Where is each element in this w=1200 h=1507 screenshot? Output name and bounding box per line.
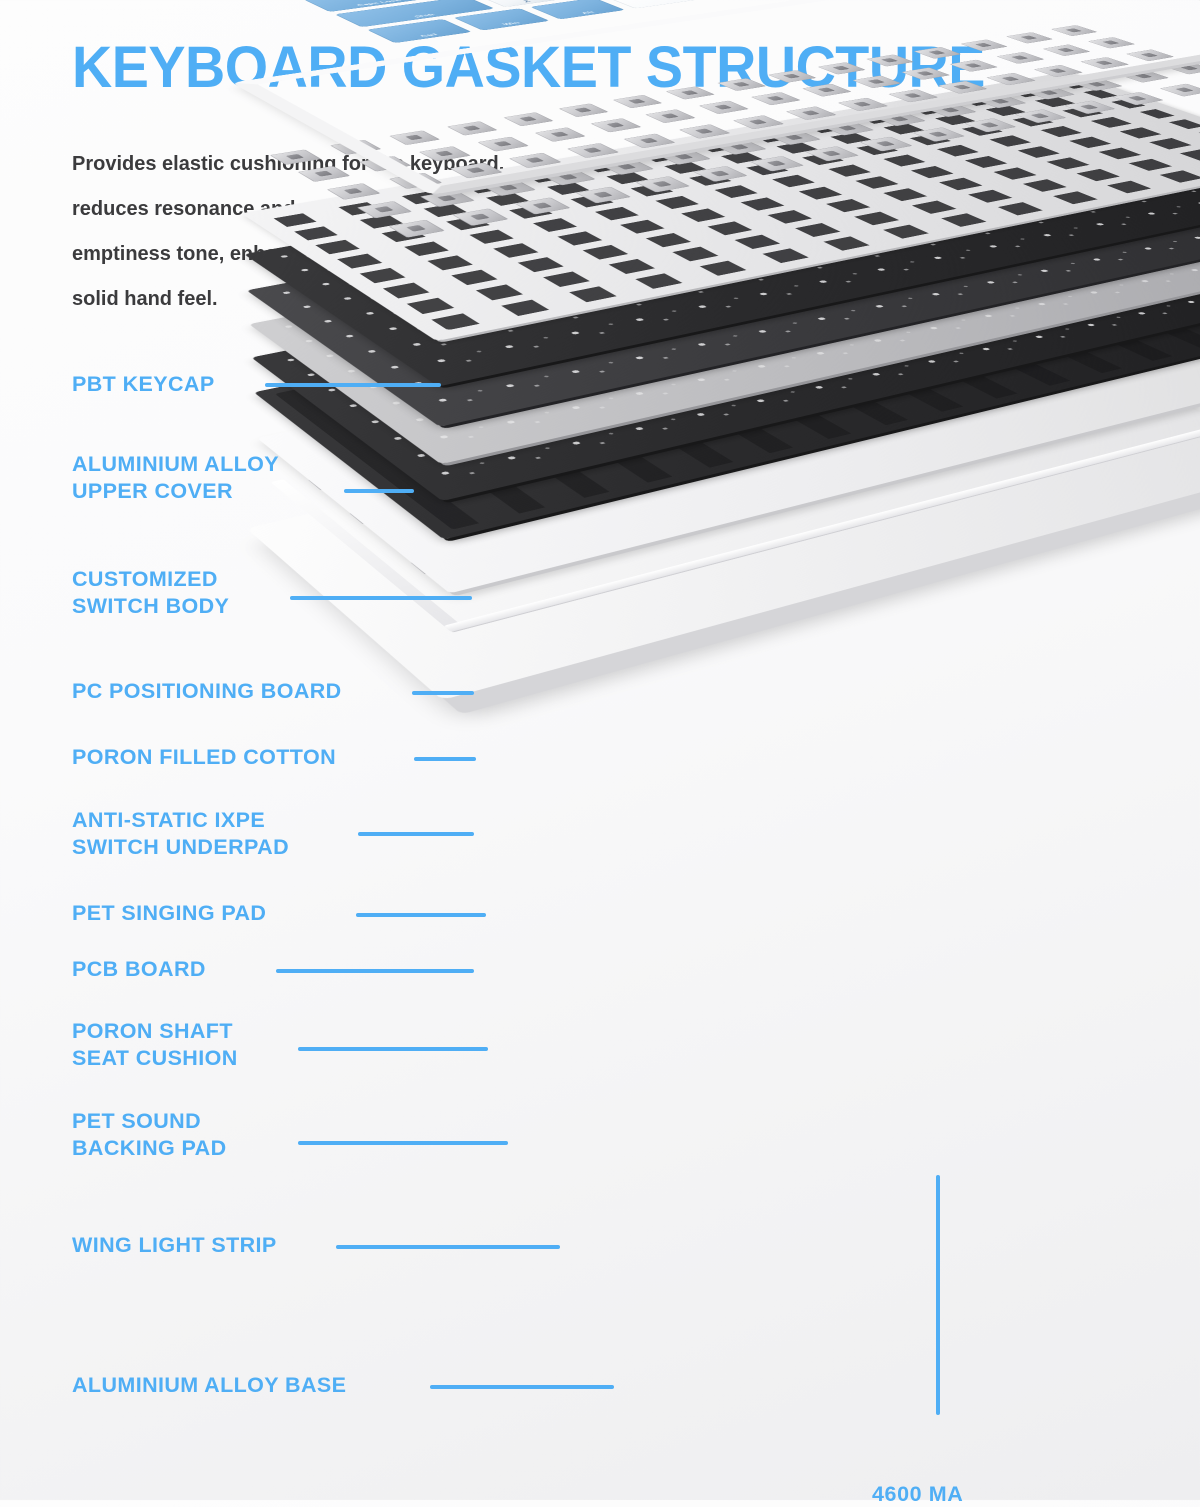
switch-body	[1064, 100, 1116, 114]
switch-wall	[1126, 49, 1175, 61]
keycap-legend: Caps Lock	[304, 0, 436, 12]
switch-stem	[890, 116, 909, 121]
layer-aluminium-alloy-base	[247, 342, 1200, 700]
switch-wall	[635, 176, 690, 192]
switch-wall	[447, 121, 498, 135]
switch-stem	[1088, 82, 1106, 87]
switch-stem	[785, 135, 804, 140]
label-switch-body-line-2: SWITCH BODY	[72, 593, 229, 620]
switch-stem	[674, 154, 693, 160]
switch-housing	[1064, 100, 1116, 114]
switch-body	[925, 103, 977, 117]
strip-clip-3	[410, 559, 440, 575]
switch-stem	[929, 132, 948, 137]
switch-wall	[1051, 25, 1098, 36]
switch-wall	[859, 137, 912, 152]
switch-housing	[658, 149, 711, 164]
switch-body	[503, 112, 553, 126]
keycap-skirt	[605, 0, 941, 9]
switch-body	[559, 103, 609, 117]
switch-housing	[1024, 86, 1075, 99]
switch-housing	[503, 112, 553, 126]
switch-stem	[551, 132, 569, 137]
keycap-caps-lock: Caps Lock	[304, 0, 436, 12]
label-pet-sound-backing-line-2: BACKING PAD	[72, 1135, 227, 1162]
switch-body	[964, 118, 1017, 132]
switch-wall	[1072, 78, 1123, 91]
label-pet-singing-pad: PET SINGING PAD	[72, 900, 266, 927]
keycap-skirt	[477, 0, 558, 7]
switch-body	[750, 156, 804, 172]
switch-wall	[874, 112, 926, 126]
switch-stem	[1040, 90, 1058, 95]
label-pet-singing-pad-line-1: PET SINGING PAD	[72, 900, 266, 927]
switch-stem	[593, 192, 613, 198]
switch-body	[534, 127, 585, 142]
switch-body	[874, 112, 926, 126]
switch-wall	[1080, 57, 1129, 69]
switch-body	[1088, 37, 1136, 48]
switch-stem	[838, 125, 857, 130]
switch-wall	[623, 134, 675, 149]
switch-housing	[1165, 62, 1200, 74]
switch-body	[1112, 92, 1164, 105]
keycap-legend: Shift	[335, 0, 495, 27]
switch-housing	[1088, 37, 1136, 48]
switch-stem	[1001, 76, 1019, 81]
switch-wall	[1014, 109, 1066, 123]
switch-housing	[714, 140, 767, 155]
switch-housing	[1080, 57, 1129, 69]
switch-housing	[600, 159, 654, 175]
leader-line-pcb-board	[276, 969, 474, 973]
switch-stem	[405, 135, 423, 140]
switch-wall	[714, 140, 767, 155]
label-poron-filled-cotton: PORON FILLED COTTON	[72, 744, 336, 771]
switch-stem	[991, 99, 1009, 104]
switch-stem	[1020, 36, 1037, 40]
subtitle-line-3: emptiness tone, enhance typing	[72, 232, 592, 277]
switch-stem	[1134, 74, 1152, 79]
leader-line-pbt-keycap	[265, 383, 441, 387]
switch-stem	[714, 105, 732, 110]
switch-stem	[802, 110, 820, 115]
light-strip-left	[271, 479, 465, 631]
label-ixpe-underpad: ANTI-STATIC IXPESWITCH UNDERPAD	[72, 807, 289, 861]
switch-stem	[617, 164, 636, 170]
switch-stem	[710, 171, 729, 177]
switch-housing	[786, 106, 837, 120]
leader-line-pet-sound-backing	[298, 1141, 508, 1145]
switch-body	[1024, 86, 1075, 99]
switch-wall	[590, 118, 641, 132]
leader-line-poron-shaft	[298, 1047, 488, 1051]
switch-stem	[749, 119, 767, 124]
label-pet-sound-backing-line-1: PET SOUND	[72, 1108, 227, 1135]
switch-body	[1051, 25, 1098, 36]
switch-body	[786, 106, 837, 120]
switch-body	[1072, 78, 1123, 91]
switch-body	[1165, 62, 1200, 74]
switch-housing	[1014, 109, 1066, 123]
switch-wall	[986, 73, 1036, 86]
switch-housing	[623, 134, 675, 149]
switch-body	[635, 176, 690, 192]
switch-stem	[574, 107, 592, 112]
switch-stem	[1030, 113, 1049, 118]
switch-wall	[503, 112, 553, 126]
switch-body	[733, 115, 785, 129]
switch-stem	[1095, 61, 1113, 65]
switch-body	[1042, 44, 1090, 56]
switch-wall	[1159, 84, 1200, 97]
keycap-shift: Shift	[335, 0, 495, 27]
leader-line-pc-positioning	[412, 691, 474, 695]
switch-housing	[447, 121, 498, 135]
switch-body	[859, 137, 912, 152]
switch-body	[658, 149, 711, 164]
switch-housing	[1051, 25, 1098, 36]
switch-housing	[912, 127, 965, 142]
switch-stem	[980, 122, 999, 127]
label-pc-positioning-line-1: PC POSITIONING BOARD	[72, 678, 342, 705]
switch-stem	[1141, 53, 1159, 57]
switch-housing	[1034, 65, 1084, 77]
switch-body	[1126, 49, 1175, 61]
label-ixpe-underpad-line-1: ANTI-STATIC IXPE	[72, 807, 289, 834]
switch-housing	[1006, 32, 1053, 43]
switch-wall	[658, 149, 711, 164]
switch-wall	[1034, 65, 1084, 77]
switch-stem	[652, 181, 672, 187]
label-ixpe-underpad-line-2: SWITCH UNDERPAD	[72, 834, 289, 861]
label-aluminium-upper-line-2: UPPER COVER	[72, 478, 279, 505]
switch-housing	[1119, 70, 1169, 83]
keycap-z: Z	[477, 0, 558, 7]
switch-housing	[645, 109, 696, 123]
label-poron-shaft-line-2: SEAT CUSHION	[72, 1045, 238, 1072]
keycap-skirt	[530, 0, 626, 19]
label-pc-positioning: PC POSITIONING BOARD	[72, 678, 342, 705]
switch-housing	[1159, 84, 1200, 97]
switch-housing	[768, 130, 821, 145]
label-aluminium-upper: ALUMINIUM ALLOYUPPER COVER	[72, 451, 279, 505]
keycap-legend: Win	[453, 8, 550, 30]
switch-housing	[996, 52, 1045, 64]
switch-housing	[1042, 44, 1090, 56]
label-poron-shaft-line-1: PORON SHAFT	[72, 1018, 238, 1045]
switch-body	[1159, 84, 1200, 97]
switch-housing	[635, 176, 690, 192]
switch-housing	[859, 137, 912, 152]
switch-wall	[1006, 32, 1053, 43]
keycap-skirt	[335, 0, 495, 27]
switch-body	[986, 73, 1036, 86]
switch-wall	[699, 101, 749, 115]
switch-body	[1014, 109, 1066, 123]
switch-housing	[679, 124, 731, 138]
switch-body	[693, 166, 748, 182]
keycap-win: Win	[453, 8, 550, 30]
label-switch-body: CUSTOMIZEDSWITCH BODY	[72, 566, 229, 620]
switch-body	[714, 140, 767, 155]
switch-stem	[606, 122, 624, 127]
switch-body	[1119, 70, 1169, 83]
switch-stem	[941, 107, 959, 112]
switch-wall	[750, 156, 804, 172]
switch-housing	[874, 112, 926, 126]
switch-housing	[1112, 92, 1164, 105]
battery-leader-line	[936, 1175, 940, 1415]
label-aluminium-base: ALUMINIUM ALLOY BASE	[72, 1372, 346, 1399]
label-poron-filled-cotton-line-1: PORON FILLED COTTON	[72, 744, 336, 771]
label-aluminium-upper-line-1: ALUMINIUM ALLOY	[72, 451, 279, 478]
switch-body	[1034, 65, 1084, 77]
switch-body	[1006, 32, 1053, 43]
switch-body	[679, 124, 731, 138]
battery-compartment	[786, 301, 1018, 367]
switch-wall	[1165, 62, 1200, 74]
leader-line-wing-light-strip	[336, 1245, 560, 1249]
leader-line-aluminium-base	[430, 1385, 614, 1389]
switch-stem	[661, 113, 679, 118]
switch-wall	[912, 127, 965, 142]
switch-housing	[733, 115, 785, 129]
battery-capacity-label: 4600 MA	[872, 1482, 963, 1507]
leader-line-aluminium-upper	[344, 489, 414, 493]
switch-body	[623, 134, 675, 149]
switch-body	[447, 121, 498, 135]
leader-line-pet-singing-pad	[356, 913, 486, 917]
switch-wall	[600, 159, 654, 175]
switch-wall	[964, 118, 1017, 132]
switch-wall	[1119, 70, 1169, 83]
switch-housing	[822, 121, 874, 135]
switch-body	[912, 127, 965, 142]
switch-housing	[1126, 49, 1175, 61]
switch-housing	[986, 73, 1036, 86]
keycap-blank	[605, 0, 941, 9]
switch-wall	[996, 52, 1045, 64]
switch-body	[699, 101, 749, 115]
switch-stem	[640, 138, 659, 143]
page-title: KEYBOARD GASKET STRUCTURE	[72, 34, 985, 101]
leader-line-ixpe-underpad	[358, 832, 474, 836]
keycap-legend	[605, 0, 941, 9]
switch-housing	[534, 127, 585, 142]
keycap-legend: Alt	[530, 0, 626, 19]
switch-wall	[1064, 100, 1116, 114]
switch-housing	[964, 118, 1017, 132]
switch-body	[996, 52, 1045, 64]
switch-stem	[1065, 28, 1082, 32]
label-pet-sound-backing: PET SOUNDBACKING PAD	[72, 1108, 227, 1162]
switch-housing	[693, 166, 748, 182]
keycap-alt: Alt	[530, 0, 626, 19]
switch-wall	[534, 127, 585, 142]
switch-stem	[822, 151, 841, 157]
switch-housing	[750, 156, 804, 172]
label-wing-light-strip: WING LIGHT STRIP	[72, 1232, 277, 1259]
switch-wall	[733, 115, 785, 129]
switch-stem	[1049, 68, 1067, 73]
switch-stem	[695, 128, 713, 133]
subtitle-line-1: Provides elastic cushioning for the keyb…	[72, 142, 592, 187]
switch-body	[590, 118, 641, 132]
switch-housing	[699, 101, 749, 115]
keycap-skirt	[304, 0, 436, 12]
switch-housing	[590, 118, 641, 132]
switch-stem	[853, 102, 871, 107]
switch-stem	[1175, 87, 1193, 92]
switch-body	[805, 146, 859, 161]
switch-wall	[768, 130, 821, 145]
switch-stem	[876, 141, 895, 146]
switch-wall	[559, 103, 609, 117]
switch-wall	[822, 121, 874, 135]
label-pbt-keycap: PBT KEYCAP	[72, 371, 215, 398]
switch-housing	[925, 103, 977, 117]
switch-body	[600, 159, 654, 175]
strip-clip-1	[308, 477, 336, 491]
switch-stem	[1180, 66, 1198, 71]
switch-wall	[1042, 44, 1090, 56]
layer-wing-light-strip	[260, 303, 1200, 635]
leader-line-poron-filled-cotton	[414, 757, 476, 761]
switch-housing	[805, 146, 859, 161]
switch-stem	[1102, 40, 1119, 44]
page-subtitle: Provides elastic cushioning for the keyb…	[72, 142, 592, 322]
switch-wall	[1024, 86, 1075, 99]
switch-stem	[463, 125, 481, 130]
switch-stem	[1057, 48, 1074, 52]
label-switch-body-line-1: CUSTOMIZED	[72, 566, 229, 593]
switch-housing	[559, 103, 609, 117]
label-aluminium-base-line-1: ALUMINIUM ALLOY BASE	[72, 1372, 346, 1399]
subtitle-line-2: reduces resonance and reduces	[72, 187, 592, 232]
switch-body	[768, 130, 821, 145]
label-pbt-keycap-line-1: PBT KEYCAP	[72, 371, 215, 398]
label-pcb-board: PCB BOARD	[72, 956, 206, 983]
switch-stem	[730, 144, 749, 150]
switch-stem	[1080, 104, 1099, 109]
switch-wall	[693, 166, 748, 182]
switch-wall	[805, 146, 859, 161]
subtitle-line-4: solid hand feel.	[72, 277, 592, 322]
switch-body	[645, 109, 696, 123]
switch-body	[822, 121, 874, 135]
switch-body	[1080, 57, 1129, 69]
switch-stem	[767, 161, 786, 167]
label-wing-light-strip-line-1: WING LIGHT STRIP	[72, 1232, 277, 1259]
switch-stem	[1011, 55, 1028, 59]
strip-clip-2	[349, 510, 378, 525]
keycap-legend: Z	[477, 0, 558, 7]
switch-wall	[786, 106, 837, 120]
label-poron-shaft: PORON SHAFTSEAT CUSHION	[72, 1018, 238, 1072]
switch-housing	[1072, 78, 1123, 91]
label-pcb-board-line-1: PCB BOARD	[72, 956, 206, 983]
switch-wall	[1112, 92, 1164, 105]
switch-wall	[925, 103, 977, 117]
switch-stem	[1128, 96, 1147, 101]
light-strip-front	[444, 410, 1200, 632]
switch-wall	[1088, 37, 1136, 48]
keycap-skirt	[453, 8, 550, 30]
switch-wall	[679, 124, 731, 138]
switch-stem	[519, 116, 537, 121]
switch-wall	[645, 109, 696, 123]
leader-line-switch-body	[290, 596, 472, 600]
